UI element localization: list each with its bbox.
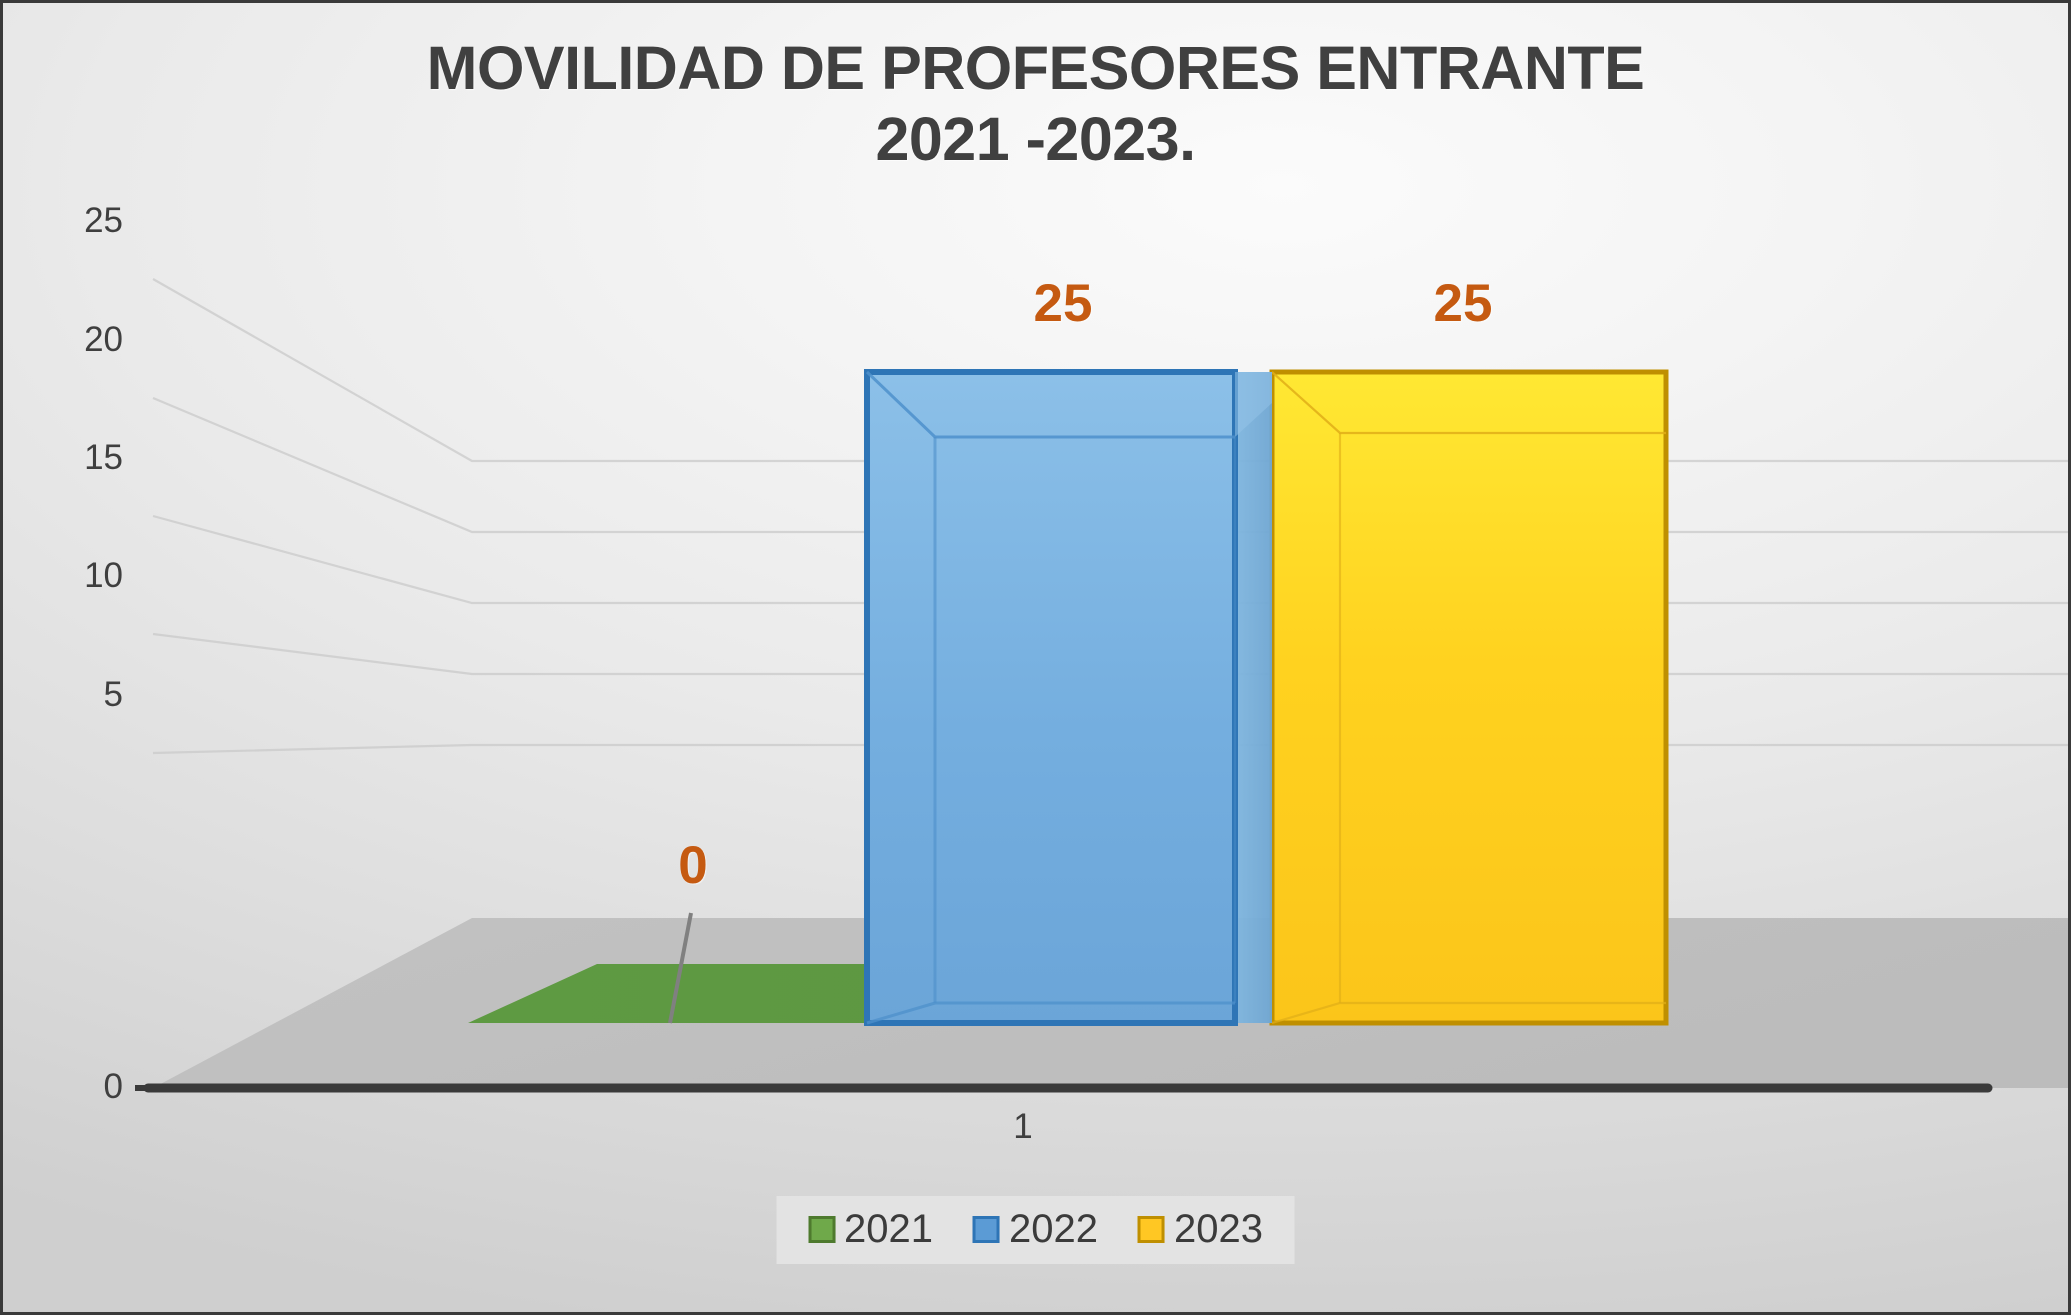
legend-label-2021: 2021	[844, 1209, 933, 1249]
legend-swatch-2022-icon	[973, 1216, 1000, 1243]
data-label-2023: 25	[1388, 273, 1538, 334]
chart-container: MOVILIDAD DE PROFESORES ENTRANTE 2021 -2…	[0, 0, 2071, 1315]
y-tick-label-20: 20	[13, 320, 123, 360]
legend-item-2021[interactable]: 2021	[808, 1209, 933, 1249]
y-tick-label-5: 5	[13, 675, 123, 715]
legend-item-2023[interactable]: 2023	[1138, 1209, 1263, 1249]
legend-swatch-2021-icon	[808, 1216, 835, 1243]
x-tick-label-1: 1	[963, 1107, 1083, 1147]
bar-2022[interactable]	[867, 372, 1272, 1023]
legend-label-2022: 2022	[1009, 1209, 1098, 1249]
legend-item-2022[interactable]: 2022	[973, 1209, 1098, 1249]
bar-2023[interactable]	[1272, 372, 1666, 1023]
y-tick-label-25: 25	[13, 201, 123, 241]
legend: 2021 2022 2023	[776, 1196, 1295, 1264]
y-tick-label-0: 0	[13, 1067, 123, 1107]
legend-swatch-2023-icon	[1138, 1216, 1165, 1243]
legend-label-2023: 2023	[1174, 1209, 1263, 1249]
data-label-2022: 25	[988, 273, 1138, 334]
y-tick-label-10: 10	[13, 556, 123, 596]
data-label-2021: 0	[618, 835, 768, 896]
y-tick-label-15: 15	[13, 438, 123, 478]
